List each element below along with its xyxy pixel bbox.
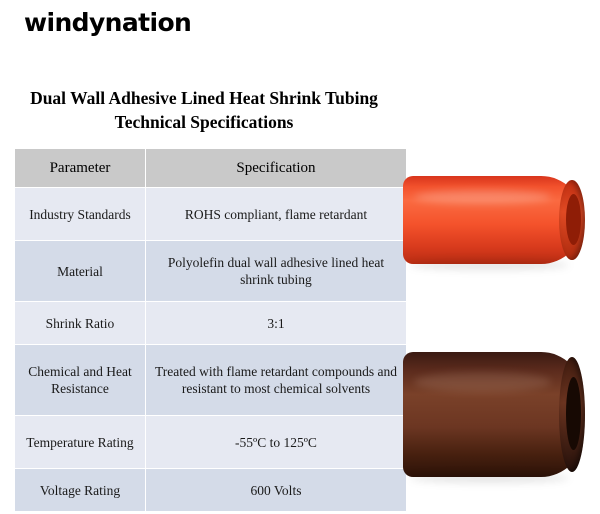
table-header-row: Parameter Specification	[15, 149, 407, 188]
column-header-specification: Specification	[146, 149, 407, 188]
tube-highlight	[414, 372, 551, 392]
red-tube-graphic	[403, 176, 583, 264]
specifications-table: Parameter Specification Industry Standar…	[14, 148, 407, 512]
cell-specification: Treated with flame retardant compounds a…	[146, 345, 407, 416]
cell-specification: Polyolefin dual wall adhesive lined heat…	[146, 241, 407, 302]
cell-parameter: Material	[15, 241, 146, 302]
cell-parameter: Industry Standards	[15, 188, 146, 241]
cell-parameter: Voltage Rating	[15, 469, 146, 512]
column-header-parameter: Parameter	[15, 149, 146, 188]
table-row: Material Polyolefin dual wall adhesive l…	[15, 241, 407, 302]
table-row: Temperature Rating -55ºC to 125ºC	[15, 416, 407, 469]
tube-inner-bore	[566, 377, 581, 450]
red-tube-image	[403, 176, 583, 264]
cell-parameter: Temperature Rating	[15, 416, 146, 469]
page-title: Dual Wall Adhesive Lined Heat Shrink Tub…	[14, 86, 394, 134]
cell-specification: 3:1	[146, 302, 407, 345]
brown-tube-image	[403, 352, 583, 477]
brown-tube-graphic	[403, 352, 583, 477]
table-row: Shrink Ratio 3:1	[15, 302, 407, 345]
tube-body	[403, 352, 583, 477]
cell-specification: ROHS compliant, flame retardant	[146, 188, 407, 241]
tube-shadow	[410, 260, 568, 270]
cell-parameter: Chemical and Heat Resistance	[15, 345, 146, 416]
cell-specification: 600 Volts	[146, 469, 407, 512]
brand-logo: windynation	[24, 8, 191, 37]
cell-parameter: Shrink Ratio	[15, 302, 146, 345]
cell-specification: -55ºC to 125ºC	[146, 416, 407, 469]
tube-highlight	[414, 190, 551, 204]
tube-inner-bore	[566, 194, 581, 245]
table-row: Voltage Rating 600 Volts	[15, 469, 407, 512]
table-row: Chemical and Heat Resistance Treated wit…	[15, 345, 407, 416]
table-row: Industry Standards ROHS compliant, flame…	[15, 188, 407, 241]
tube-shadow	[410, 473, 568, 483]
